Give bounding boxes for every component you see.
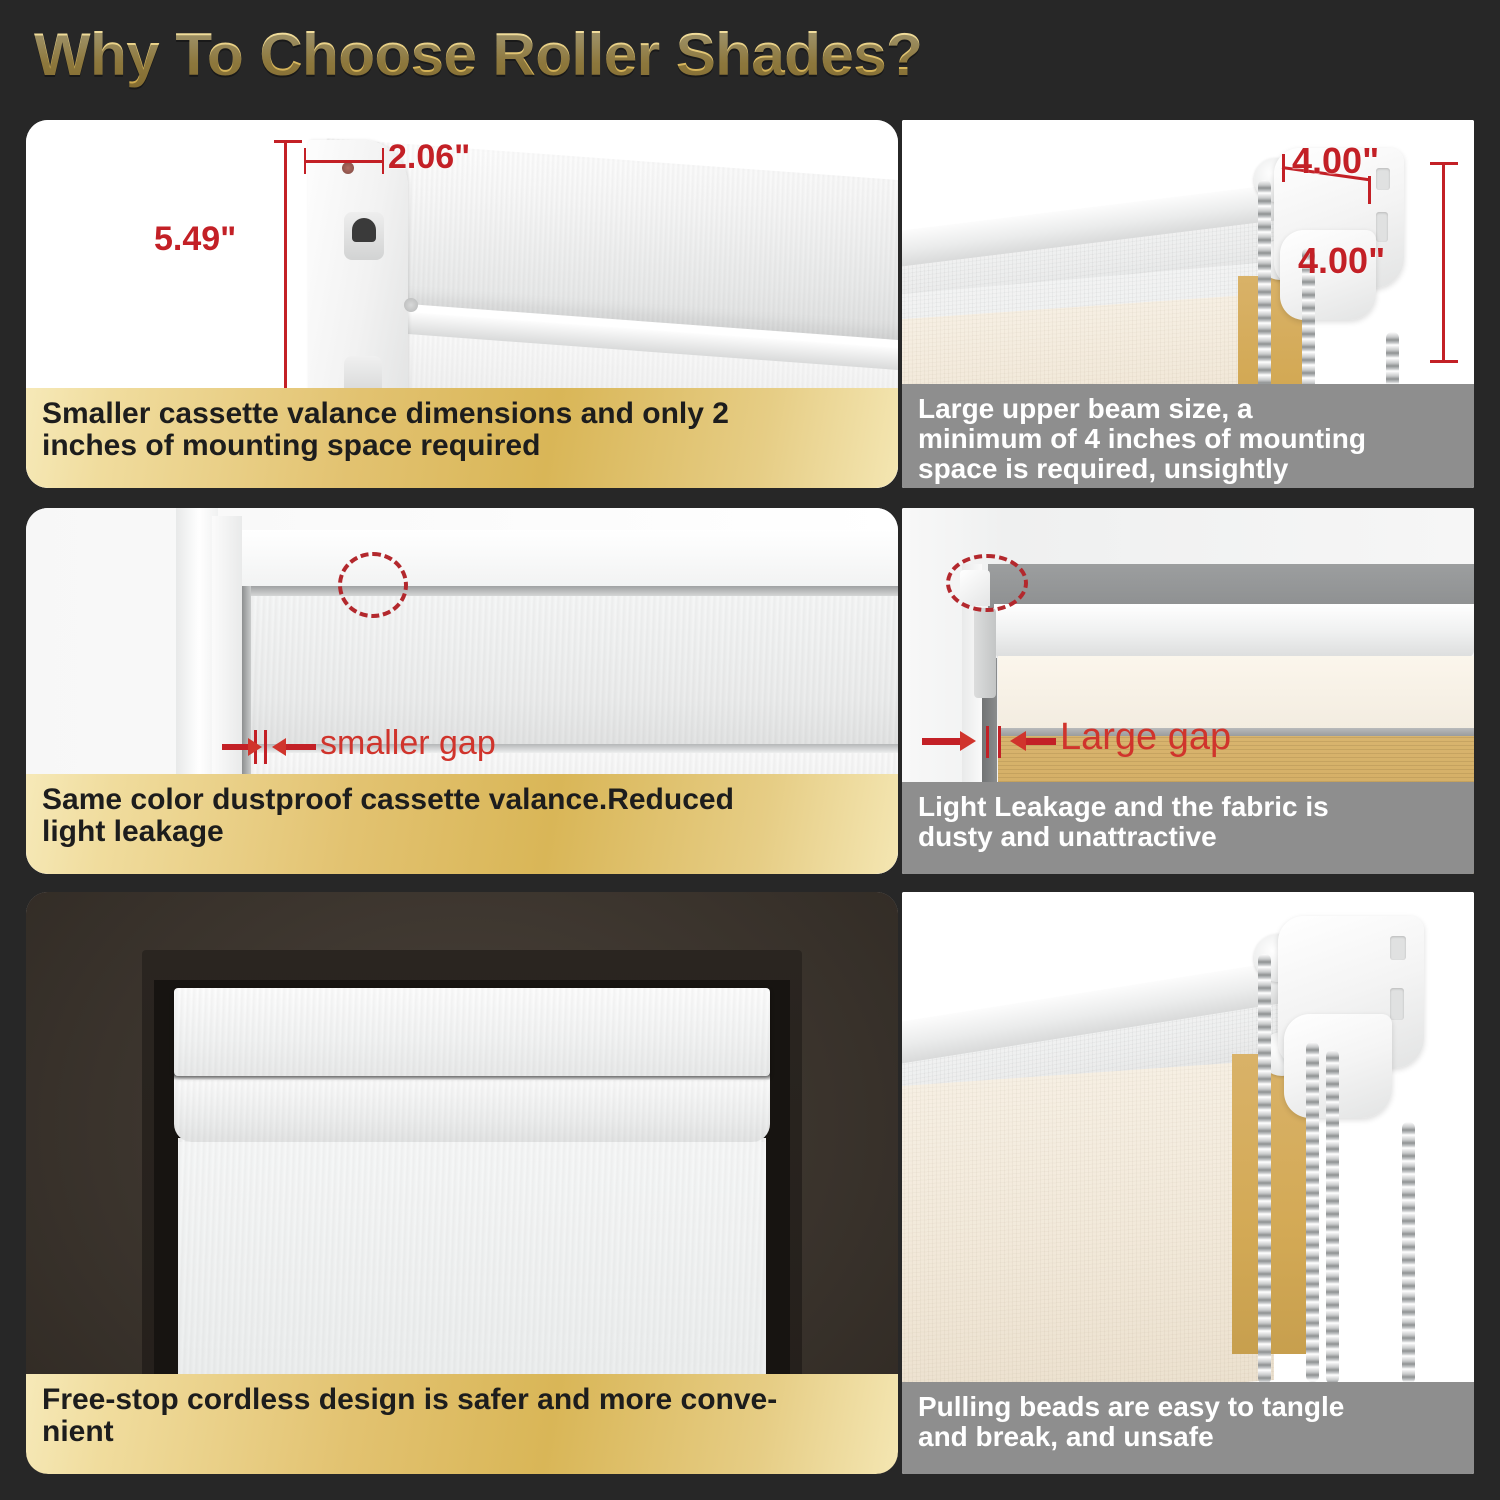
height-dimension-label: 4.00" bbox=[1298, 240, 1385, 282]
caption-line: light leakage bbox=[42, 816, 882, 848]
gap-label: smaller gap bbox=[320, 724, 496, 763]
caption-line: and break, and unsafe bbox=[918, 1422, 1458, 1452]
dim-line-width bbox=[304, 160, 384, 163]
panel-cordless-design: Free-stop cordless design is safer and m… bbox=[26, 892, 898, 1474]
caption-pulling-beads: Pulling beads are easy to tangle and bre… bbox=[902, 1382, 1474, 1474]
gap-label: Large gap bbox=[1060, 716, 1231, 759]
caption-line: Large upper beam size, a bbox=[918, 394, 1458, 424]
caption-line: Pulling beads are easy to tangle bbox=[918, 1392, 1458, 1422]
cassette-valance bbox=[174, 988, 770, 1076]
highlight-circle bbox=[338, 552, 408, 618]
arrow-right-icon bbox=[248, 738, 262, 756]
caption-line: Same color dustproof cassette valance.Re… bbox=[42, 784, 882, 816]
panel-cassette-dimensions: 2.06" 5.49" Smaller cassette valance dim… bbox=[26, 120, 898, 488]
caption-line: inches of mounting space required bbox=[42, 430, 882, 462]
width-dimension-label: 2.06" bbox=[388, 138, 470, 177]
panel-light-leakage: Large gap Light Leakage and the fabric i… bbox=[902, 508, 1474, 874]
gap-tick bbox=[264, 730, 267, 764]
panel-pulling-beads: Pulling beads are easy to tangle and bre… bbox=[902, 892, 1474, 1474]
arrow-left-icon bbox=[272, 738, 286, 756]
bead-chain[interactable] bbox=[1306, 1042, 1319, 1382]
caption-line: Free-stop cordless design is safer and m… bbox=[42, 1384, 882, 1416]
gap-tick bbox=[998, 726, 1001, 758]
caption-line: nient bbox=[42, 1416, 882, 1448]
caption-line: Smaller cassette valance dimensions and … bbox=[42, 398, 882, 430]
caption-cassette-dimensions: Smaller cassette valance dimensions and … bbox=[26, 388, 898, 488]
gap-tick bbox=[986, 726, 989, 758]
bead-chain[interactable] bbox=[1258, 954, 1271, 1384]
arrow-right-icon bbox=[960, 731, 976, 751]
panel-dustproof-valance: smaller gap Same color dustproof cassett… bbox=[26, 508, 898, 874]
panel-upper-beam-size: 4.00" 4.00" Large upper beam size, a min… bbox=[902, 120, 1474, 488]
bead-chain[interactable] bbox=[1326, 1050, 1339, 1384]
caption-line: space is required, unsightly bbox=[918, 454, 1458, 484]
width-dimension-label: 4.00" bbox=[1292, 140, 1379, 182]
highlight-circle bbox=[946, 554, 1028, 612]
caption-line: minimum of 4 inches of mounting bbox=[918, 424, 1458, 454]
page-title: Why To Choose Roller Shades? bbox=[34, 20, 922, 89]
caption-upper-beam-size: Large upper beam size, a minimum of 4 in… bbox=[902, 384, 1474, 488]
height-dimension-label: 5.49" bbox=[154, 220, 236, 259]
caption-line: dusty and unattractive bbox=[918, 822, 1458, 852]
arrow-left-icon bbox=[1010, 731, 1026, 751]
caption-cordless-design: Free-stop cordless design is safer and m… bbox=[26, 1374, 898, 1474]
infographic-page: Why To Choose Roller Shades? 2.06" 5.49" bbox=[0, 0, 1500, 1500]
caption-line: Light Leakage and the fabric is bbox=[918, 792, 1458, 822]
bead-chain[interactable] bbox=[1402, 1122, 1415, 1384]
dim-tick-top bbox=[274, 140, 302, 143]
caption-light-leakage: Light Leakage and the fabric is dusty an… bbox=[902, 782, 1474, 874]
caption-dustproof-valance: Same color dustproof cassette valance.Re… bbox=[26, 774, 898, 874]
